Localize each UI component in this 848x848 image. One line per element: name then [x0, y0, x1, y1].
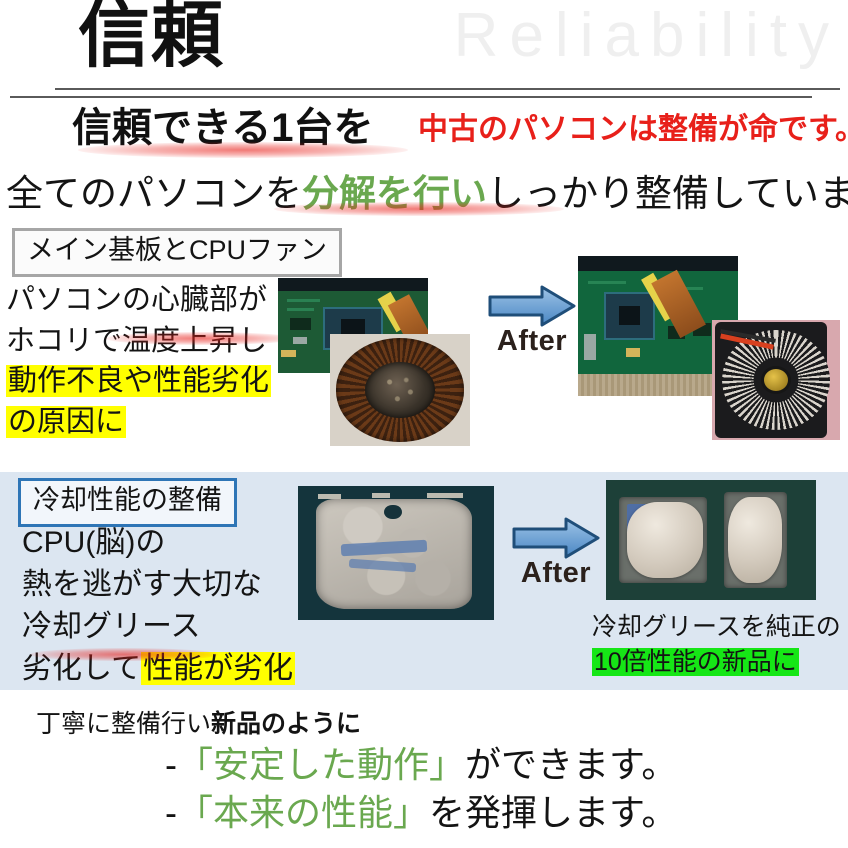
- paste-blob-right: [728, 497, 783, 583]
- section2-right-line2: 10倍性能の新品に: [592, 648, 799, 676]
- infographic-page: 信頼 Reliability 信頼できる1台を 中古のパソコンは整備が命です。 …: [0, 0, 848, 848]
- section2-right-text: 冷却グリースを純正の 10倍性能の新品に: [592, 610, 841, 679]
- section1-line4: の原因に: [6, 406, 126, 438]
- watermark-text: Reliability: [454, 2, 840, 70]
- footer-line2-green: 「安定した動作」: [177, 744, 465, 785]
- pink-underline-glow-lead: [274, 202, 564, 216]
- section1-label: メイン基板とCPUファン: [12, 228, 342, 277]
- pink-underline-glow-s2: [30, 648, 218, 661]
- divider-line-top: [55, 88, 840, 90]
- after-arrow-group-1: After: [484, 284, 580, 358]
- fan-hub-dusty: [365, 362, 436, 419]
- footer-line1: 丁寧に整備行い新品のように: [36, 704, 361, 740]
- footer-line3: -「本来の性能」を発揮します。: [165, 790, 677, 837]
- right-arrow-icon-2: [508, 516, 604, 560]
- section1-line3: 動作不良や性能劣化: [6, 365, 271, 397]
- header: 信頼 Reliability: [0, 0, 848, 100]
- photo-clean-fan: [712, 320, 840, 440]
- paste-blob-left: [627, 502, 703, 579]
- section-cooling-grease: 冷却性能の整備 CPU(脳)の 熱を逃がす大切な 冷却グリース 劣化して性能が劣…: [0, 472, 848, 690]
- after-arrow-group-2: After: [508, 516, 604, 590]
- right-arrow-icon: [484, 284, 580, 328]
- divider-line-bottom: [10, 96, 812, 98]
- section2-body: CPU(脳)の 熱を逃がす大切な 冷却グリース 劣化して性能が劣化: [22, 522, 295, 690]
- footer-line1-plain: 丁寧に整備行い: [36, 710, 211, 738]
- footer-summary: 丁寧に整備行い新品のように -「安定した動作」ができます。 -「本来の性能」を発…: [0, 690, 848, 848]
- section2-line1: CPU(脳)の: [22, 522, 295, 564]
- photo-degraded-thermal-paste: [298, 486, 494, 620]
- section2-label: 冷却性能の整備: [18, 478, 237, 527]
- photo-dusty-fan: [330, 334, 470, 446]
- footer-line1-bold: 新品のように: [211, 710, 361, 738]
- after-label-2: After: [508, 558, 604, 590]
- after-label-1: After: [484, 326, 580, 358]
- subheading-red-note: 中古のパソコンは整備が命です。: [418, 112, 848, 148]
- footer-line3-green: 「本来の性能」: [177, 792, 429, 833]
- footer-line2-dash: -: [165, 744, 177, 785]
- footer-line3-dash: -: [165, 792, 177, 833]
- fan-blades-rusty: [336, 338, 465, 441]
- section2-line-grease: 冷却グリース: [22, 606, 295, 648]
- footer-line2-rest: ができます。: [465, 744, 677, 785]
- section1-line1: パソコンの心臓部が: [6, 280, 271, 321]
- lead-before: 全てのパソコンを: [6, 173, 302, 214]
- footer-line2: -「安定した動作」ができます。: [165, 742, 677, 789]
- page-title: 信頼: [78, 0, 224, 77]
- pink-underline-glow: [78, 142, 408, 158]
- section2-right-line1: 冷却グリースを純正の: [592, 610, 841, 645]
- section2-line2: 熱を逃がす大切な: [22, 564, 295, 606]
- footer-line3-rest: を発揮します。: [429, 792, 677, 833]
- section-mainboard-cpufan: メイン基板とCPUファン パソコンの心臓部が ホコリで温度上昇し 動作不良や性能…: [0, 228, 848, 470]
- pink-underline-glow-s1: [106, 332, 296, 345]
- photo-new-thermal-paste: [606, 480, 816, 600]
- section1-body: パソコンの心臓部が ホコリで温度上昇し 動作不良や性能劣化 の原因に: [6, 280, 271, 442]
